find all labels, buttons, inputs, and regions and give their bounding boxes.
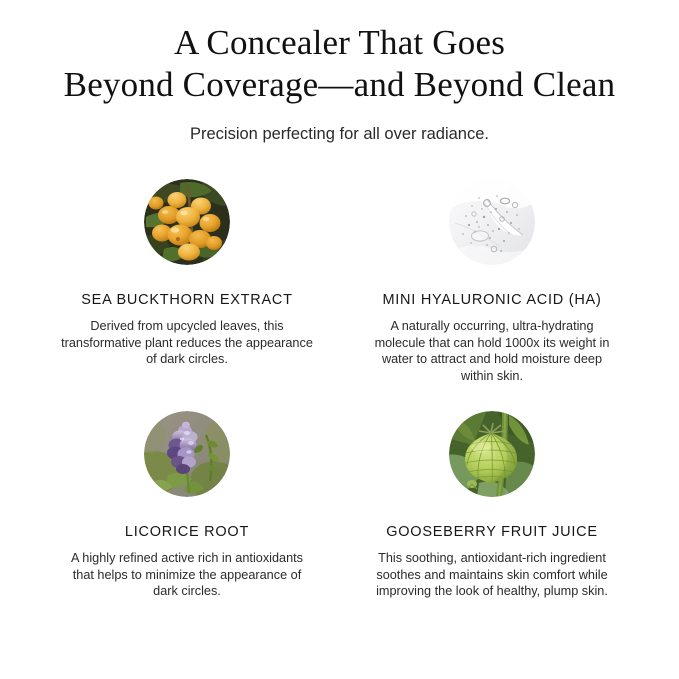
- gooseberry-fruit-photo: [449, 411, 535, 497]
- page-title-line-1: A Concealer That Goes: [30, 22, 650, 64]
- page-subtitle: Precision perfecting for all over radian…: [0, 123, 679, 145]
- licorice-flower-photo: [144, 411, 230, 497]
- page-title-line-2: Beyond Coverage—and Beyond Clean: [30, 64, 650, 106]
- licorice-flower-illustration: [144, 411, 230, 497]
- page-title: A Concealer That Goes Beyond Coverage—an…: [30, 22, 650, 106]
- ingredient-description: This soothing, antioxidant-rich ingredie…: [366, 550, 618, 600]
- ingredient-title: LICORICE ROOT: [125, 523, 249, 541]
- ingredient-card-gooseberry-fruit-juice: GOOSEBERRY FRUIT JUICE This soothing, an…: [340, 411, 645, 600]
- gel-texture-illustration: [449, 179, 535, 265]
- sea-buckthorn-berries-photo: [144, 179, 230, 265]
- ingredient-title: GOOSEBERRY FRUIT JUICE: [386, 523, 598, 541]
- clear-gel-texture-photo: [449, 179, 535, 265]
- gooseberry-illustration: [449, 411, 535, 497]
- sea-buckthorn-illustration: [144, 179, 230, 265]
- page-header: A Concealer That Goes Beyond Coverage—an…: [0, 0, 679, 145]
- ingredient-grid: SEA BUCKTHORN EXTRACT Derived from upcyc…: [35, 145, 645, 600]
- ingredient-title: MINI HYALURONIC ACID (HA): [382, 291, 601, 309]
- ingredient-title: SEA BUCKTHORN EXTRACT: [81, 291, 293, 309]
- ingredient-card-sea-buckthorn-extract: SEA BUCKTHORN EXTRACT Derived from upcyc…: [35, 179, 340, 384]
- ingredient-benefits-page: A Concealer That Goes Beyond Coverage—an…: [0, 0, 679, 679]
- ingredient-card-mini-hyaluronic-acid: MINI HYALURONIC ACID (HA) A naturally oc…: [340, 179, 645, 384]
- ingredient-description: Derived from upcycled leaves, this trans…: [61, 318, 313, 368]
- ingredient-card-licorice-root: LICORICE ROOT A highly refined active ri…: [35, 411, 340, 600]
- ingredient-description: A naturally occurring, ultra-hydrating m…: [366, 318, 618, 384]
- ingredient-description: A highly refined active rich in antioxid…: [61, 550, 313, 600]
